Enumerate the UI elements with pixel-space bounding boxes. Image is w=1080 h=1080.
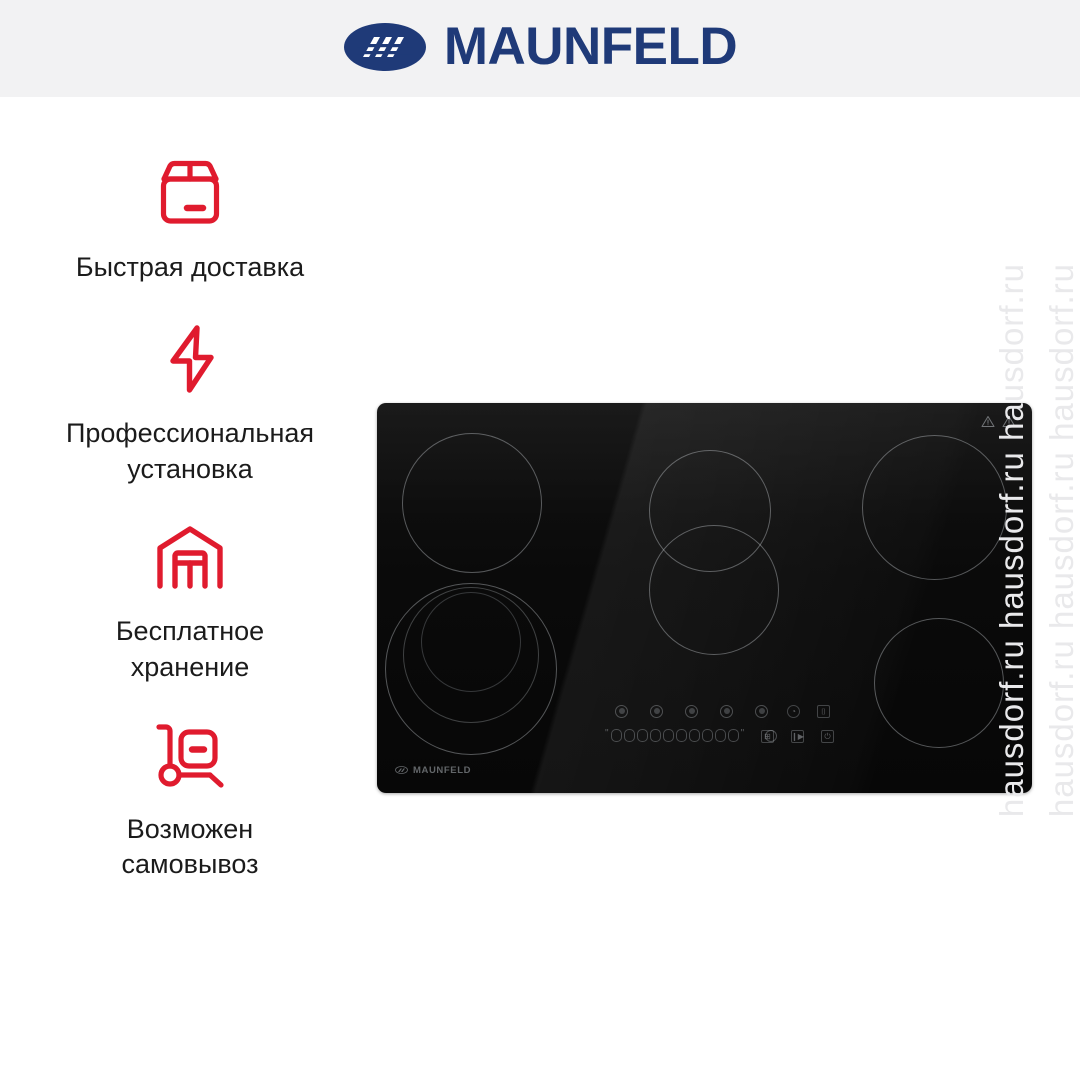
feature-label: Возможен самовывоз bbox=[122, 812, 259, 884]
slider-segment[interactable] bbox=[624, 729, 635, 742]
touch-control-panel[interactable]: " " ◔ ⌷ bbox=[605, 703, 815, 763]
slider-right-cap: " bbox=[741, 729, 745, 739]
feature-item-pickup: Возможен самовывоз bbox=[0, 712, 380, 884]
cooking-zone-bottom-left-inner bbox=[421, 592, 521, 692]
function-key-row-bottom: ⊞ ❙▶ ⏻ bbox=[761, 730, 834, 743]
cooking-zone-center-bottom bbox=[649, 525, 779, 655]
timer-key[interactable]: ◔ bbox=[787, 705, 800, 718]
burner-key-5[interactable] bbox=[755, 705, 768, 718]
slider-segment[interactable] bbox=[728, 729, 739, 742]
warehouse-icon bbox=[150, 520, 230, 594]
feature-icon-wrapper bbox=[150, 150, 230, 236]
burner-key-4[interactable] bbox=[720, 705, 733, 718]
watermark-column: hausdorf.ru hausdorf.ru hausdorf.ru bbox=[1045, 0, 1078, 1080]
pause-key[interactable]: ❙▶ bbox=[791, 730, 804, 743]
slider-left-cap: " bbox=[605, 729, 609, 739]
burner-key-2[interactable] bbox=[650, 705, 663, 718]
feature-label: Бесплатное хранение bbox=[116, 614, 264, 686]
cooktop-brand-badge-text: MAUNFELD bbox=[413, 766, 471, 776]
product-image-hob: " " ◔ ⌷ bbox=[377, 403, 1032, 793]
cooking-zone-bottom-right bbox=[874, 618, 1004, 748]
warning-triangle-icon bbox=[1002, 415, 1016, 428]
slider-segment[interactable] bbox=[715, 729, 726, 742]
maunfeld-ellipse-mark-icon bbox=[343, 21, 427, 73]
burner-key-3[interactable] bbox=[685, 705, 698, 718]
page-header: MAUNFELD bbox=[0, 0, 1080, 97]
warning-triangle-icon bbox=[981, 415, 995, 428]
lightning-bolt-icon bbox=[156, 319, 224, 399]
cooking-zone-top-right bbox=[862, 435, 1007, 580]
burner-key-row bbox=[615, 705, 768, 718]
bridge-zone-key[interactable]: ⊞ bbox=[761, 730, 774, 743]
slider-segment[interactable] bbox=[663, 729, 674, 742]
feature-item-installation: Профессиональная установка bbox=[0, 316, 380, 488]
slider-segment[interactable] bbox=[650, 729, 661, 742]
brand-wordmark: MAUNFELD bbox=[444, 20, 737, 73]
watermark-text: hausdorf.ru hausdorf.ru hausdorf.ru bbox=[1045, 241, 1078, 839]
slider-segment[interactable] bbox=[702, 729, 713, 742]
slider-segment[interactable] bbox=[637, 729, 648, 742]
power-key[interactable]: ⏻ bbox=[821, 730, 834, 743]
feature-label: Профессиональная установка bbox=[66, 416, 314, 488]
feature-icon-wrapper bbox=[156, 316, 224, 402]
function-key-row-top: ◔ ⌷ bbox=[787, 705, 830, 718]
power-slider[interactable]: " " bbox=[605, 729, 744, 742]
feature-icon-wrapper bbox=[148, 712, 232, 798]
feature-item-storage: Бесплатное хранение bbox=[0, 514, 380, 686]
hand-truck-icon bbox=[148, 718, 232, 792]
maunfeld-ellipse-mark-icon bbox=[395, 766, 408, 774]
burner-key-1[interactable] bbox=[615, 705, 628, 718]
child-lock-key[interactable]: ⌷ bbox=[817, 705, 830, 718]
feature-label: Быстрая доставка bbox=[76, 250, 304, 286]
cooktop-glass-surface: " " ◔ ⌷ bbox=[377, 403, 1032, 793]
feature-list: Быстрая доставка Профессиональная устано… bbox=[0, 150, 380, 883]
slider-segment[interactable] bbox=[611, 729, 622, 742]
product-promo-page: MAUNFELD Быстрая доставка bbox=[0, 0, 1080, 1080]
package-box-icon bbox=[150, 153, 230, 233]
slider-segment[interactable] bbox=[676, 729, 687, 742]
feature-icon-wrapper bbox=[150, 514, 230, 600]
warning-marks-group bbox=[981, 415, 1016, 428]
feature-item-delivery: Быстрая доставка bbox=[0, 150, 380, 286]
slider-segment[interactable] bbox=[689, 729, 700, 742]
cooking-zone-top-left bbox=[402, 433, 542, 573]
cooktop-brand-badge: MAUNFELD bbox=[395, 766, 471, 776]
brand-lockup: MAUNFELD bbox=[343, 20, 737, 73]
